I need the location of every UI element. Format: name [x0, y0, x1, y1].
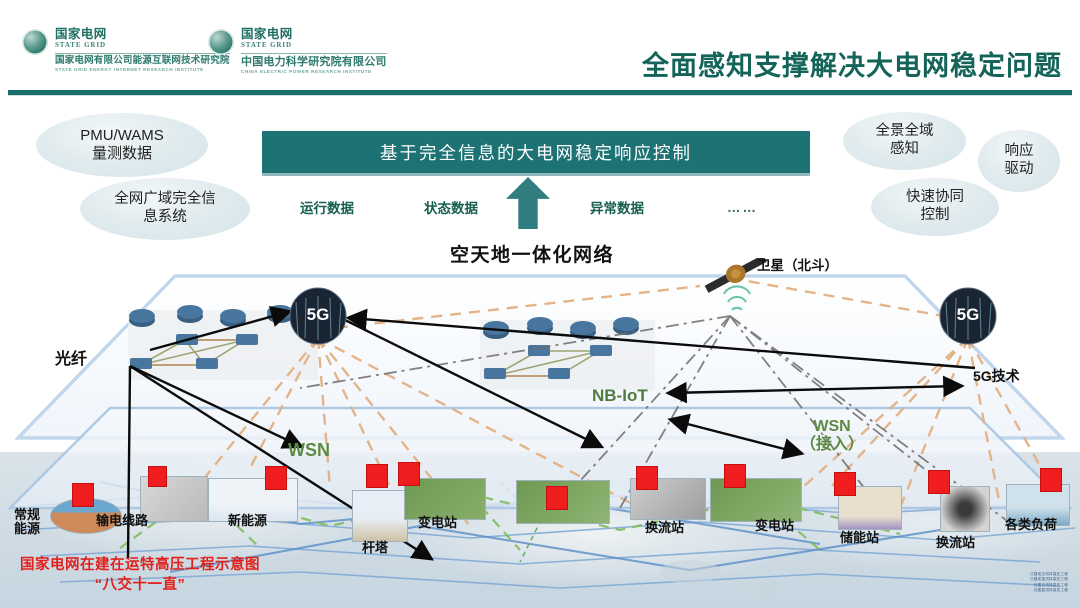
label-satellite: 卫星（北斗）: [757, 254, 838, 274]
legend-item: 在建直流特高压工程: [908, 588, 1068, 594]
logo-divider: [241, 53, 387, 54]
bubble-pmu-wams: PMU/WAMS 量测数据: [36, 113, 208, 177]
bubble-line1: PMU/WAMS: [80, 127, 164, 145]
device-label-energy-storage: 储能站: [840, 531, 879, 545]
device-label-converter-station-1: 换流站: [645, 521, 684, 535]
bubble-line2: 量测数据: [80, 145, 164, 163]
up-arrow-icon: [506, 177, 550, 229]
router-cluster-left: [128, 305, 318, 380]
marker-red-tower: [366, 464, 388, 488]
label-wsn: WSN: [288, 440, 330, 461]
svg-text:5G: 5G: [957, 305, 980, 324]
logo-name-en: STATE GRID: [55, 41, 230, 50]
bubble-line1: 全网广域完全信: [114, 191, 216, 209]
label-fiber: 光纤: [55, 345, 87, 369]
marker-red-energy-storage: [834, 472, 856, 496]
logo-sub-cn: 中国电力科学研究院有限公司: [241, 56, 387, 69]
bubble-fast-coordinated-control: 快速协同 控制: [871, 178, 999, 236]
slide-header: 国家电网 STATE GRID 国家电网有限公司能源互联网技术研究院 STATE…: [0, 0, 1080, 92]
data-label-operation: 运行数据: [300, 197, 354, 217]
marker-red-transmission-line: [148, 466, 167, 487]
5g-node-right: 5G: [940, 288, 996, 344]
device-label-new-energy: 新能源: [228, 514, 267, 528]
device-label-converter-station-2: 换流站: [936, 536, 975, 550]
bubble-panoramic-sensing: 全景全域 感知: [843, 112, 966, 170]
device-label-loads: 各类负荷: [1005, 518, 1057, 532]
marker-red-loads: [1040, 468, 1062, 492]
5g-node-left: 5G: [290, 288, 346, 344]
map-title-line2: “八交十一直”: [20, 576, 260, 596]
device-label-conventional-energy: 常规 能源: [14, 508, 40, 537]
slide-root: 国家电网 STATE GRID 国家电网有限公司能源互联网技术研究院 STATE…: [0, 0, 1080, 608]
main-banner: 基于完全信息的大电网稳定响应控制: [262, 131, 810, 176]
bubble-response-driven: 响应 驱动: [978, 130, 1060, 192]
main-banner-label: 基于完全信息的大电网稳定响应控制: [380, 140, 692, 165]
logo-sub-en: CHINA ELECTRIC POWER RESEARCH INSTITUTE: [241, 69, 387, 76]
marker-red-converter-2: [928, 470, 950, 494]
map-title: 国家电网在建在运特高压工程示意图 “八交十一直”: [20, 556, 260, 595]
map-legend: 已建成交流特高压工程 已建成直流特高压工程 在建交流特高压工程 在建直流特高压工…: [908, 572, 1068, 594]
logo-state-grid-energy-internet: 国家电网 STATE GRID 国家电网有限公司能源互联网技术研究院 STATE…: [22, 28, 230, 74]
marker-red-new-energy: [265, 466, 287, 490]
bubble-line2: 控制: [906, 207, 964, 225]
marker-red-conventional-energy: [72, 483, 94, 507]
marker-red-substation-center: [546, 486, 568, 510]
logo-name-en: STATE GRID: [241, 41, 387, 50]
device-label-transmission-line: 输电线路: [96, 514, 148, 528]
label-nb-iot: NB-IoT: [592, 386, 648, 406]
logo-sub-cn: 国家电网有限公司能源互联网技术研究院: [55, 56, 230, 67]
marker-red-substation-1: [398, 462, 420, 486]
logo-name-cn: 国家电网: [241, 28, 387, 41]
bubble-wide-area-info-system: 全网广域完全信 息系统: [80, 178, 250, 240]
data-label-status: 状态数据: [424, 197, 478, 217]
bubble-line1: 快速协同: [906, 189, 964, 207]
device-label-substation-1: 变电站: [418, 516, 457, 530]
logo-china-electric-power-research: 国家电网 STATE GRID 中国电力科学研究院有限公司 CHINA ELEC…: [208, 28, 387, 76]
device-label-substation-2: 变电站: [755, 519, 794, 533]
marker-red-converter-1: [636, 466, 658, 490]
label-5g-tech: 5G技术: [973, 366, 1020, 386]
label-wsn-access: WSN （接入）: [800, 418, 864, 455]
bubble-line1: 全景全域: [876, 123, 934, 141]
bubble-line1: 响应: [1005, 143, 1034, 161]
svg-text:5G: 5G: [307, 305, 330, 324]
state-grid-logo-icon: [22, 29, 48, 55]
label-wsn-access-line1: WSN: [800, 418, 864, 436]
bubble-line2: 感知: [876, 141, 934, 159]
page-title: 全面感知支撑解决大电网稳定问题: [642, 44, 1062, 83]
device-photo-tower: [352, 490, 408, 542]
map-title-line1: 国家电网在建在运特高压工程示意图: [20, 556, 260, 576]
label-wsn-access-line2: （接入）: [800, 436, 864, 454]
bubble-line2: 驱动: [1005, 161, 1034, 179]
logo-name-cn: 国家电网: [55, 28, 230, 41]
device-label-line1: 常规: [14, 508, 40, 522]
header-divider: [8, 90, 1072, 95]
device-label-line2: 能源: [14, 522, 40, 536]
marker-red-substation-2: [724, 464, 746, 488]
bubble-line2: 息系统: [114, 209, 216, 227]
data-label-ellipsis: ……: [727, 200, 758, 215]
data-label-abnormal: 异常数据: [590, 197, 644, 217]
state-grid-logo-icon: [208, 29, 234, 55]
device-label-tower: 杆塔: [362, 541, 388, 555]
logo-sub-en: STATE GRID ENERGY INTERNET RESEARCH INST…: [55, 67, 230, 74]
